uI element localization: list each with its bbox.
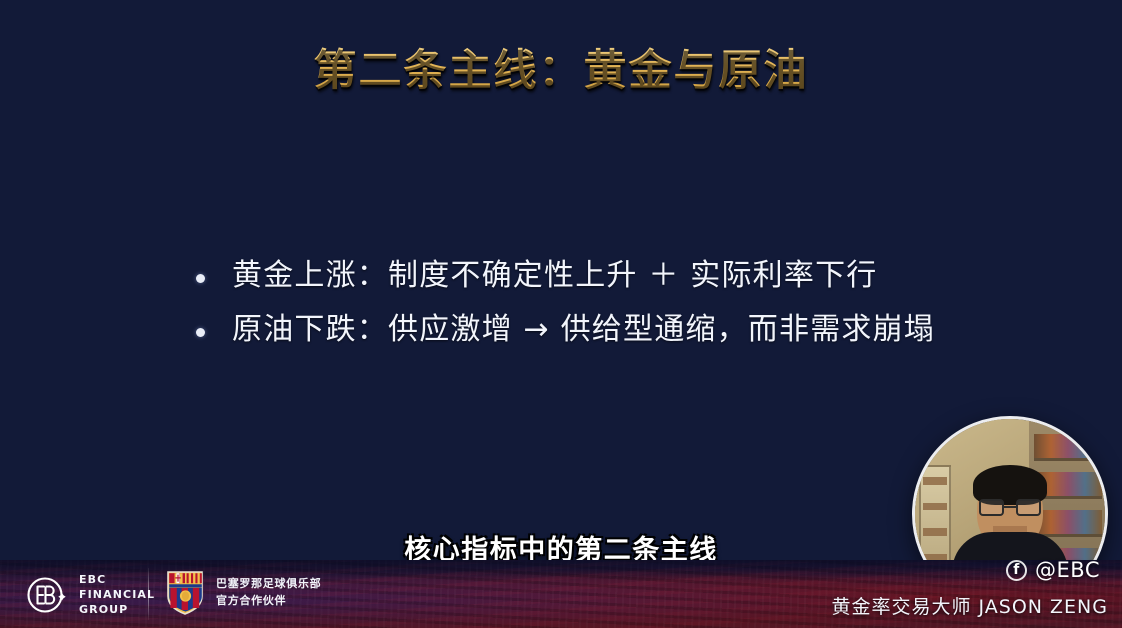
fcb-partner-text: 巴塞罗那足球俱乐部 官方合作伙伴 <box>216 575 321 609</box>
list-item: 原油下跌：供应激增 → 供给型通缩，而非需求崩塌 <box>196 310 1056 350</box>
ebc-wordmark-line1: EBC <box>79 572 155 587</box>
list-item: 黄金上涨：制度不确定性上升 ＋ 实际利率下行 <box>196 256 1056 296</box>
bullet-dot-icon <box>196 328 205 337</box>
ebc-wordmark-line3: GROUP <box>79 602 155 617</box>
bullet-text: 黄金上涨：制度不确定性上升 ＋ 实际利率下行 <box>232 256 877 296</box>
slide-bullet-list: 黄金上涨：制度不确定性上升 ＋ 实际利率下行 原油下跌：供应激增 → 供给型通缩… <box>196 256 1056 364</box>
ebc-wordmark-line2: FINANCIAL <box>79 587 155 602</box>
facebook-icon: f <box>1006 560 1027 581</box>
fc-barcelona-crest-icon <box>166 569 204 615</box>
social-handle-text: @EBC <box>1035 558 1100 582</box>
banner-divider <box>148 568 149 620</box>
social-handle: f @EBC <box>1006 558 1100 582</box>
ebc-logo: EBC FINANCIAL GROUP <box>24 572 155 618</box>
ebc-monogram-icon <box>24 573 68 617</box>
slide-title: 第二条主线：黄金与原油 <box>0 36 1122 98</box>
bullet-text: 原油下跌：供应激增 → 供给型通缩，而非需求崩塌 <box>232 310 935 350</box>
sponsor-banner: EBC FINANCIAL GROUP <box>0 560 1122 628</box>
presenter-name: 黄金率交易大师 JASON ZENG <box>831 592 1108 619</box>
fcb-partner-line1: 巴塞罗那足球俱乐部 <box>216 575 321 592</box>
presenter-glasses <box>979 499 1041 516</box>
bullet-dot-icon <box>196 274 205 283</box>
fcb-partner-line2: 官方合作伙伴 <box>216 592 321 609</box>
fcb-partner-block: 巴塞罗那足球俱乐部 官方合作伙伴 <box>166 569 321 615</box>
ebc-wordmark: EBC FINANCIAL GROUP <box>79 572 155 618</box>
video-frame: 第二条主线：黄金与原油 黄金上涨：制度不确定性上升 ＋ 实际利率下行 原油下跌：… <box>0 0 1122 628</box>
